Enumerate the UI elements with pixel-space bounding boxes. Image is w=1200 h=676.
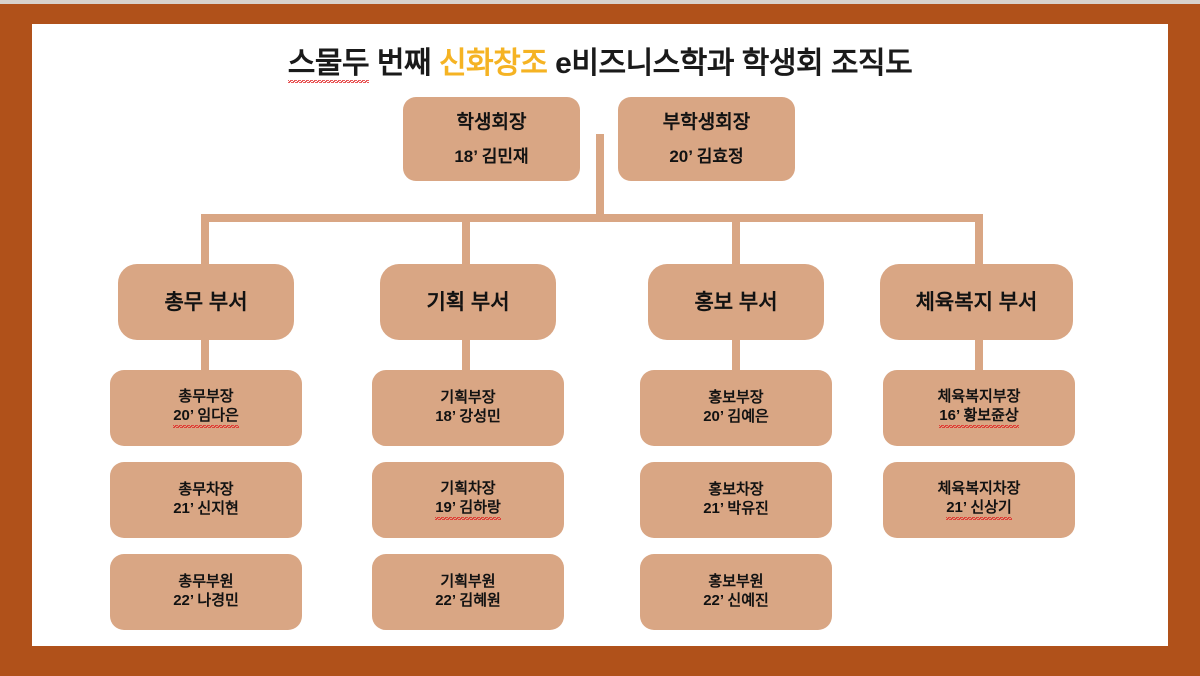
dept-box-3-label: 홍보 부서 (694, 292, 777, 313)
dept-box-3[interactable]: 홍보 부서 (648, 264, 824, 340)
member-card-1-2-person: 21’ 신지현 (173, 500, 239, 519)
dept-box-1-label: 총무 부서 (164, 292, 247, 313)
card-president-person: 18’ 김민재 (454, 148, 528, 165)
member-card-1-3[interactable]: 총무부원 22’ 나경민 (110, 554, 302, 630)
member-card-1-2[interactable]: 총무차장 21’ 신지현 (110, 462, 302, 538)
member-card-2-2[interactable]: 기획차장 19’ 김하랑 (372, 462, 564, 538)
frame-top-edge (0, 0, 1200, 4)
card-vice-president-person: 20’ 김효정 (669, 148, 743, 165)
member-card-1-2-role: 총무차장 (178, 481, 233, 500)
connector-horizontal-bus (201, 214, 983, 222)
connector-drop-dept-4 (975, 214, 983, 264)
member-card-2-3-person: 22’ 김혜원 (435, 592, 501, 611)
dept-box-2[interactable]: 기획 부서 (380, 264, 556, 340)
dept-box-4[interactable]: 체육복지 부서 (880, 264, 1073, 340)
connector-dept-3-to-members (732, 340, 740, 370)
member-card-3-2-person: 21’ 박유진 (703, 500, 769, 519)
member-card-2-1-person: 18’ 강성민 (435, 408, 501, 427)
member-card-1-3-person: 22’ 나경민 (173, 592, 239, 611)
title-accent: 신화창조 (439, 47, 547, 80)
member-card-3-2[interactable]: 홍보차장 21’ 박유진 (640, 462, 832, 538)
member-card-2-3[interactable]: 기획부원 22’ 김혜원 (372, 554, 564, 630)
card-vice-president-role: 부학생회장 (663, 113, 750, 132)
member-card-3-1-person: 20’ 김예은 (703, 408, 769, 427)
member-card-3-3[interactable]: 홍보부원 22’ 신예진 (640, 554, 832, 630)
member-card-2-3-role: 기획부원 (440, 573, 495, 592)
member-card-4-1-role: 체육복지부장 (938, 388, 1021, 407)
member-card-1-1-person: 20’ 임다은 (173, 407, 239, 429)
card-vice-president[interactable]: 부학생회장 20’ 김효정 (618, 97, 795, 181)
member-card-4-2[interactable]: 체육복지차장 21’ 신상기 (883, 462, 1075, 538)
member-card-3-3-role: 홍보부원 (708, 573, 763, 592)
connector-president-down (596, 134, 604, 220)
card-president[interactable]: 학생회장 18’ 김민재 (403, 97, 580, 181)
member-card-3-1-role: 홍보부장 (708, 389, 763, 408)
title-part-3: e비즈니스학과 학생회 조직도 (547, 47, 912, 80)
connector-drop-dept-1 (201, 214, 209, 264)
member-card-1-1[interactable]: 총무부장 20’ 임다은 (110, 370, 302, 446)
member-card-2-2-role: 기획차장 (440, 480, 495, 499)
dept-box-4-label: 체육복지 부서 (916, 292, 1038, 313)
title-part-1: 스물두 (288, 47, 369, 83)
member-card-1-3-role: 총무부원 (178, 573, 233, 592)
page-title: 스물두 번째 신화창조 e비즈니스학과 학생회 조직도 (32, 38, 1168, 82)
slide-frame: 스물두 번째 신화창조 e비즈니스학과 학생회 조직도 학생회장 18’ 김민재… (0, 0, 1200, 676)
dept-box-1[interactable]: 총무 부서 (118, 264, 294, 340)
member-card-4-2-person: 21’ 신상기 (946, 499, 1012, 521)
member-card-4-1-person: 16’ 황보쥰상 (939, 407, 1018, 429)
member-card-1-1-role: 총무부장 (178, 388, 233, 407)
dept-box-2-label: 기획 부서 (426, 292, 509, 313)
member-card-4-2-role: 체육복지차장 (938, 480, 1021, 499)
member-card-3-1[interactable]: 홍보부장 20’ 김예은 (640, 370, 832, 446)
member-card-2-1-role: 기획부장 (440, 389, 495, 408)
member-card-2-2-person: 19’ 김하랑 (435, 499, 501, 521)
member-card-4-1[interactable]: 체육복지부장 16’ 황보쥰상 (883, 370, 1075, 446)
member-card-3-2-role: 홍보차장 (708, 481, 763, 500)
member-card-2-1[interactable]: 기획부장 18’ 강성민 (372, 370, 564, 446)
connector-dept-1-to-members (201, 340, 209, 370)
connector-drop-dept-2 (462, 214, 470, 264)
chart-canvas: 스물두 번째 신화창조 e비즈니스학과 학생회 조직도 학생회장 18’ 김민재… (32, 24, 1168, 646)
member-card-3-3-person: 22’ 신예진 (703, 592, 769, 611)
connector-dept-2-to-members (462, 340, 470, 370)
connector-drop-dept-3 (732, 214, 740, 264)
connector-dept-4-to-members (975, 340, 983, 370)
card-president-role: 학생회장 (457, 113, 527, 132)
title-part-2: 번째 (369, 47, 439, 80)
